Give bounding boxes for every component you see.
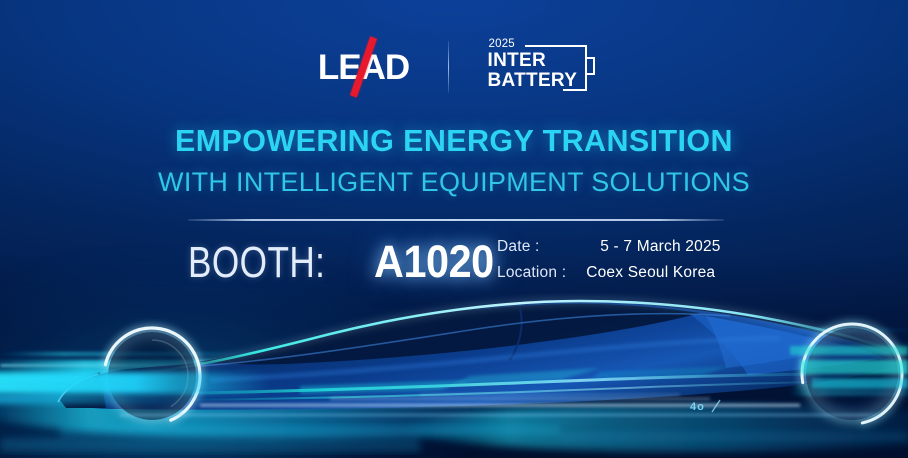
battery-terminal-edge — [593, 57, 595, 75]
battery-outline-bottom — [563, 89, 587, 91]
lead-logo: LEAD — [314, 44, 414, 90]
logo-divider — [448, 41, 449, 93]
battery-outline-right — [585, 45, 587, 90]
headline-secondary: WITH INTELLIGENT EQUIPMENT SOLUTIONS — [0, 168, 908, 197]
interbattery-year: 2025 — [489, 39, 515, 51]
interbattery-line2: BATTERY — [488, 71, 578, 90]
event-banner: LEAD 2025 INTER BATTERY EMPOWERING ENERG… — [0, 0, 908, 458]
date-label: Date : — [497, 238, 566, 256]
car-graphic: 4o — [0, 268, 908, 458]
horizontal-divider — [188, 219, 724, 221]
battery-outline-top — [525, 45, 585, 47]
date-value: 5 - 7 March 2025 — [580, 238, 720, 256]
interbattery-logo: 2025 INTER BATTERY — [483, 40, 595, 94]
svg-text:4o: 4o — [690, 401, 705, 413]
interbattery-line1: INTER — [488, 51, 547, 70]
logo-row: LEAD 2025 INTER BATTERY — [0, 38, 908, 96]
headline-primary: EMPOWERING ENERGY TRANSITION — [0, 125, 908, 158]
front-wheel — [100, 324, 204, 428]
